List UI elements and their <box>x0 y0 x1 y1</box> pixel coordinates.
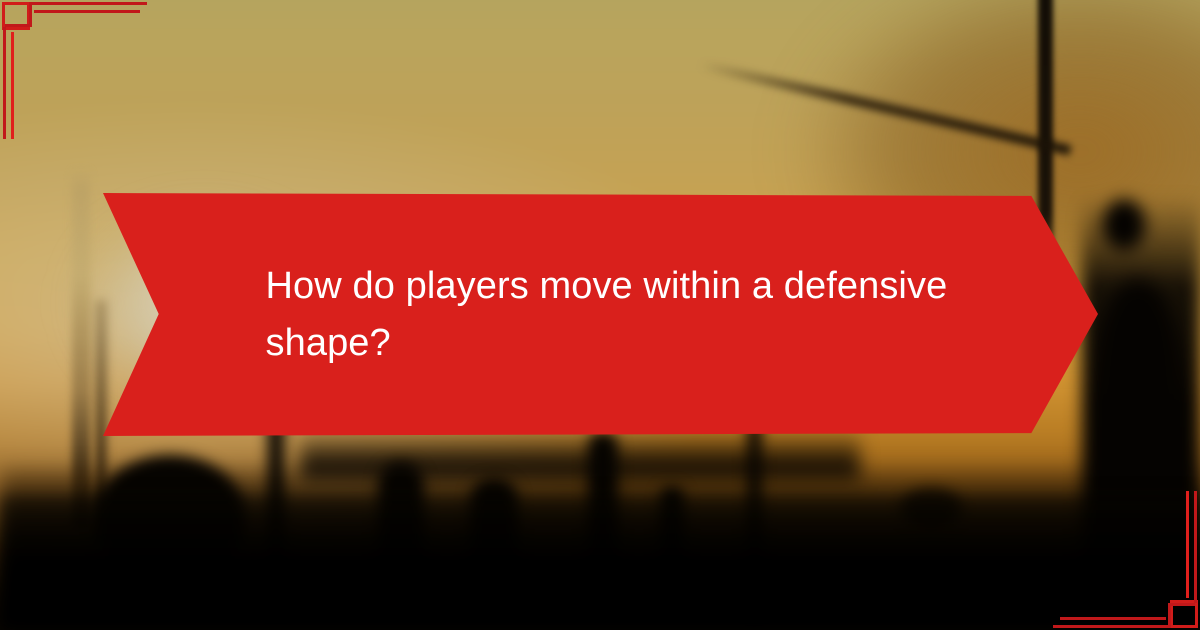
headline-text: How do players move within a defensive s… <box>266 258 966 370</box>
corner-bar-horizontal-inner-br <box>1060 617 1166 620</box>
corner-bar-vertical-outer <box>3 27 6 139</box>
corner-bar-vertical-short-br <box>1168 604 1171 628</box>
corner-bar-horizontal-outer-br <box>1053 625 1170 628</box>
corner-bar-horizontal-inner <box>34 10 140 13</box>
corner-bar-horizontal-outer <box>30 2 147 5</box>
corner-bar-vertical-inner-br <box>1186 491 1189 598</box>
corner-elbow-horizontal <box>5 24 32 27</box>
corner-bar-vertical-outer-br <box>1194 491 1197 603</box>
corner-bar-vertical-inner <box>11 32 14 139</box>
banner-image: How do players move within a defensive s… <box>0 0 1200 630</box>
headline-banner: How do players move within a defensive s… <box>103 193 1098 436</box>
top-left-corner-bracket <box>0 0 200 170</box>
corner-bar-vertical-short <box>29 2 32 26</box>
bottom-right-corner-bracket <box>1000 460 1200 630</box>
corner-elbow-horizontal-br <box>1168 603 1195 606</box>
